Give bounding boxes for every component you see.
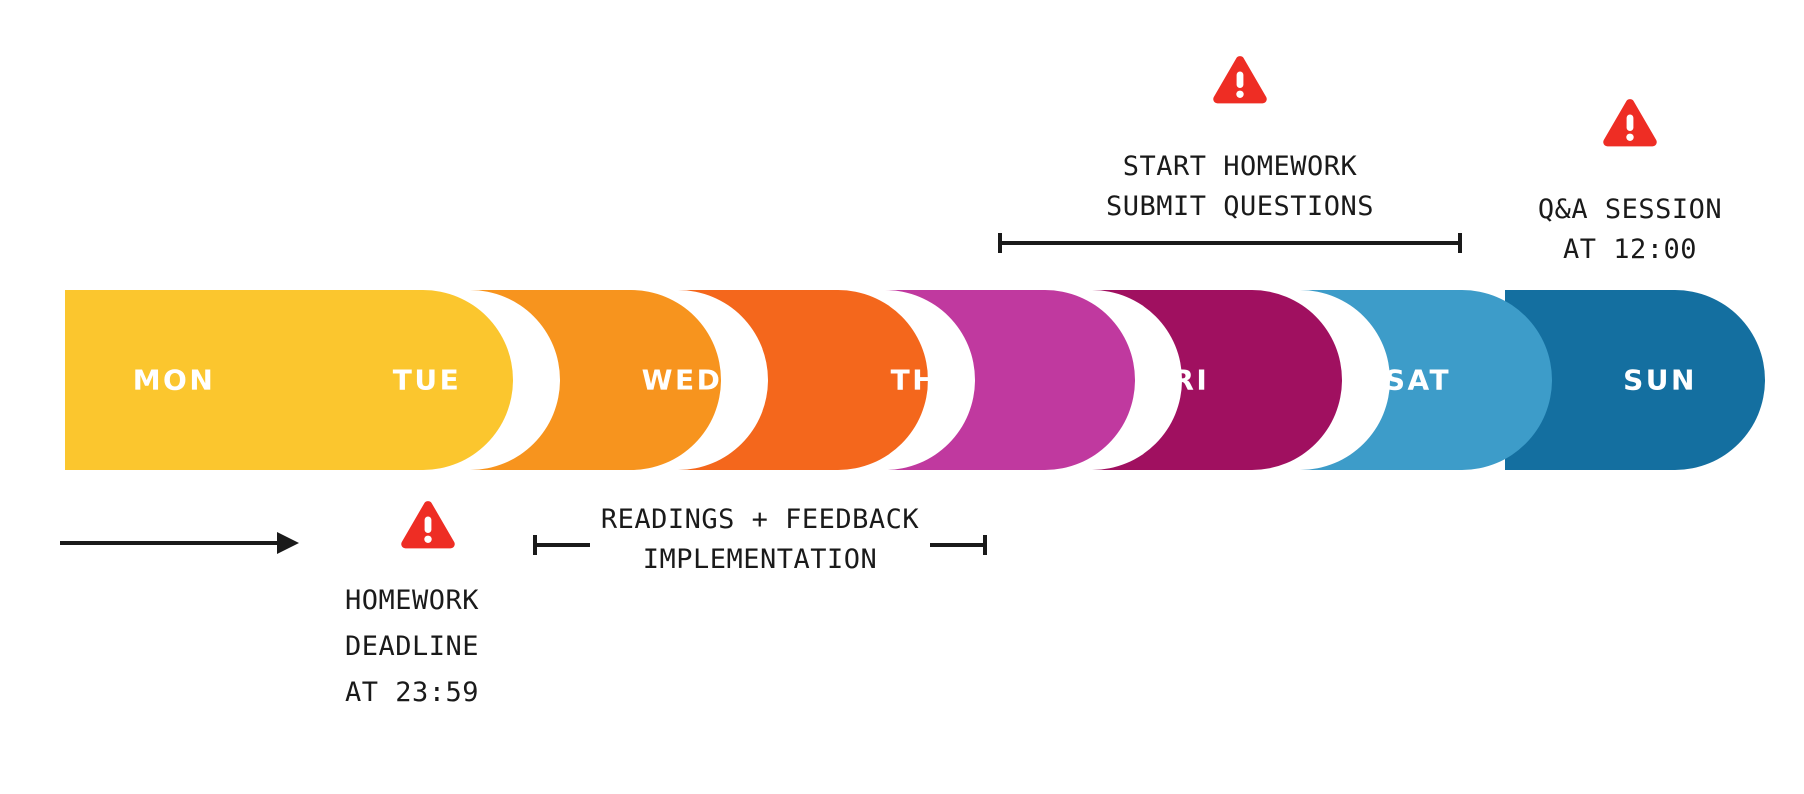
day-label-sat: SAT — [1385, 364, 1451, 397]
day-label-sun: SUN — [1623, 364, 1697, 397]
annotation-line: Q&A SESSION — [1538, 190, 1722, 230]
span-bracket-icon — [530, 530, 990, 560]
day-label-thu: THU — [891, 364, 964, 397]
annotation-line: AT 23:59 — [345, 670, 479, 716]
day-block-fri[interactable] — [1092, 290, 1342, 470]
day-label-tue: TUE — [393, 364, 461, 397]
annotation-qa-session: Q&A SESSION AT 12:00 — [1538, 190, 1722, 270]
span-bracket-icon — [995, 228, 1465, 258]
right-arrow-icon — [55, 525, 305, 561]
day-label-fri: FRI — [1151, 364, 1210, 397]
warning-triangle-icon — [400, 500, 456, 550]
annotation-line: HOMEWORK — [345, 578, 479, 624]
day-label-mon: MON — [133, 364, 216, 397]
annotation-line: DEADLINE — [345, 624, 479, 670]
annotation-line: AT 12:00 — [1538, 230, 1722, 270]
annotation-start-homework: START HOMEWORK SUBMIT QUESTIONS — [1106, 147, 1374, 227]
day-label-wed: WED — [642, 364, 723, 397]
weekly-timeline-diagram: MON TUE WED THU FRI SAT SUN START HOMEWO… — [0, 0, 1804, 794]
annotation-line: SUBMIT QUESTIONS — [1106, 187, 1374, 227]
warning-triangle-icon — [1602, 98, 1658, 148]
warning-triangle-icon — [1212, 55, 1268, 105]
annotation-line: START HOMEWORK — [1106, 147, 1374, 187]
annotation-homework-deadline: HOMEWORK DEADLINE AT 23:59 — [345, 578, 479, 716]
week-strip — [0, 0, 1804, 794]
